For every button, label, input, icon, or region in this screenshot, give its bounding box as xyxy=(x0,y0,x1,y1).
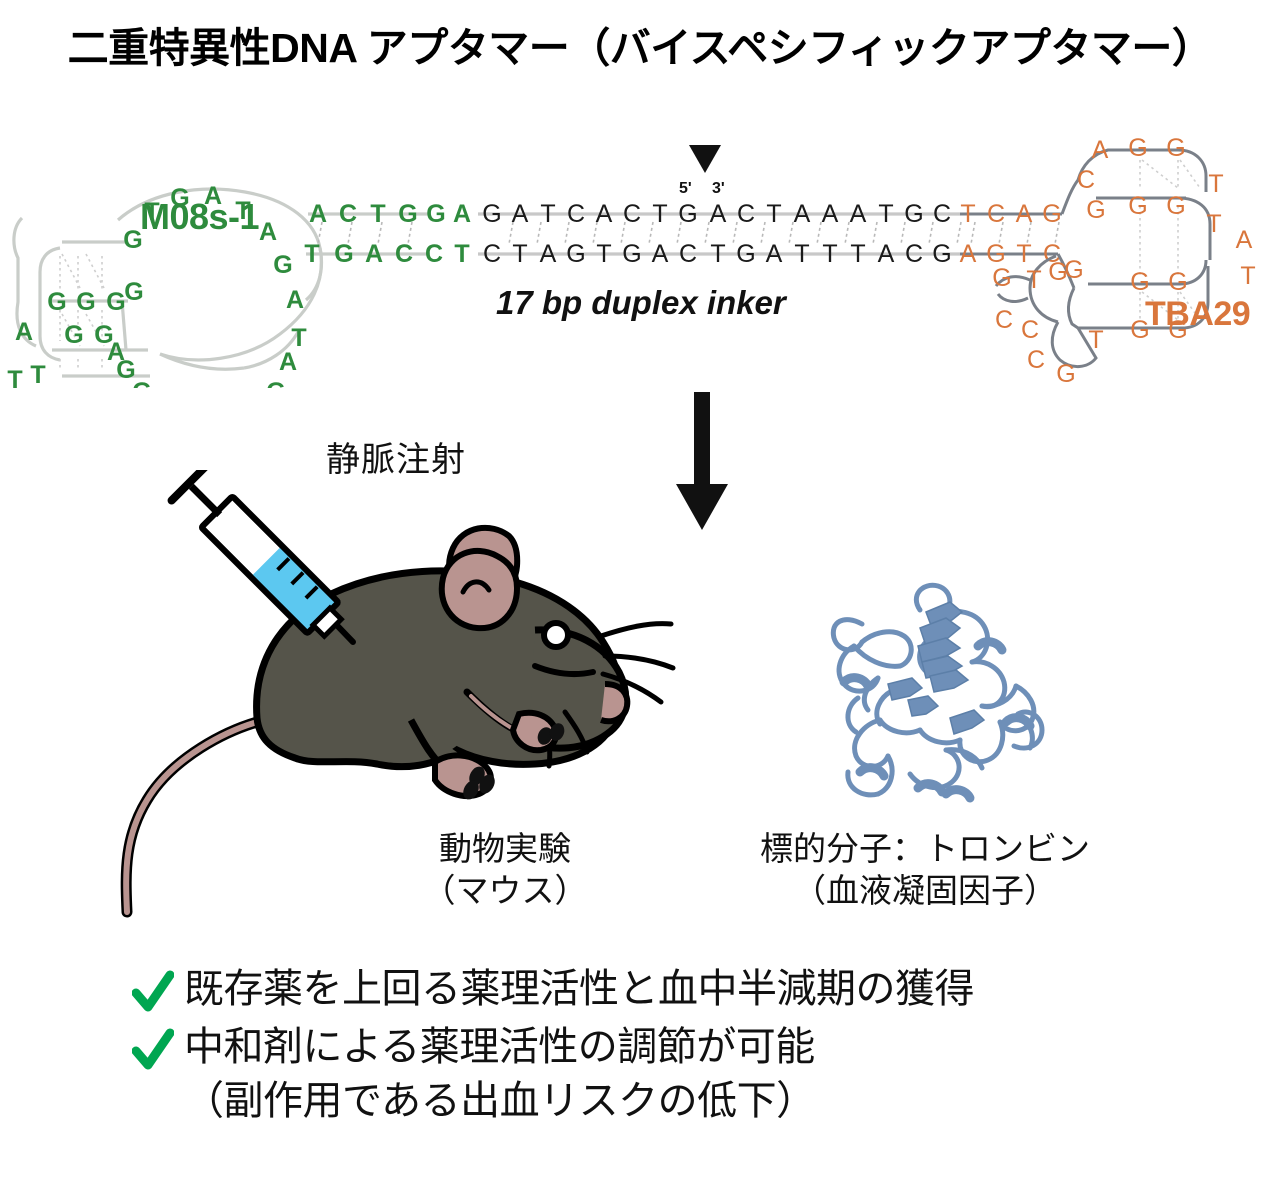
svg-text:G: G xyxy=(904,200,923,228)
svg-text:G: G xyxy=(1128,134,1147,162)
benefits-list: 既存薬を上回る薬理活性と血中半減期の獲得 中和剤による薬理活性の調節が可能 （副… xyxy=(132,963,1252,1132)
svg-text:G: G xyxy=(1086,196,1105,224)
benefit-main-line: 既存薬を上回る薬理活性と血中半減期の獲得 xyxy=(184,963,974,1017)
svg-text:C: C xyxy=(1077,166,1095,194)
svg-text:T: T xyxy=(960,200,975,228)
svg-text:C: C xyxy=(567,200,585,228)
thrombin-caption-line1: 標的分子：トロンビン xyxy=(750,828,1100,870)
benefit-main-line: 中和剤による薬理活性の調節が可能 xyxy=(184,1021,816,1075)
svg-text:C: C xyxy=(1027,346,1045,374)
svg-text:T: T xyxy=(30,361,45,388)
svg-text:G: G xyxy=(566,240,585,268)
svg-text:A: A xyxy=(1092,136,1109,164)
svg-text:T: T xyxy=(304,240,319,268)
svg-text:T: T xyxy=(596,240,611,268)
svg-text:A: A xyxy=(286,286,304,314)
thrombin-ribbon-structure xyxy=(800,550,1080,830)
svg-text:A: A xyxy=(766,240,783,268)
svg-text:A: A xyxy=(652,240,669,268)
svg-text:G: G xyxy=(1128,192,1147,220)
svg-text:A: A xyxy=(365,240,383,268)
svg-text:T: T xyxy=(822,240,837,268)
svg-text:G: G xyxy=(932,240,951,268)
svg-text:C: C xyxy=(425,240,443,268)
svg-text:A: A xyxy=(878,240,895,268)
five-prime-label: 5' xyxy=(679,180,692,198)
svg-text:G: G xyxy=(47,288,66,316)
svg-text:C: C xyxy=(483,240,501,268)
svg-text:G: G xyxy=(736,240,755,268)
svg-text:A: A xyxy=(107,338,125,366)
svg-text:G: G xyxy=(1166,134,1185,162)
svg-text:T: T xyxy=(710,240,725,268)
svg-text:A: A xyxy=(512,200,529,228)
svg-text:T: T xyxy=(766,200,781,228)
svg-text:G: G xyxy=(76,288,95,316)
svg-text:T: T xyxy=(652,200,667,228)
check-mark-icon xyxy=(132,1027,174,1075)
check-mark-icon xyxy=(132,969,174,1017)
svg-text:G: G xyxy=(273,251,292,279)
svg-text:G: G xyxy=(426,200,445,228)
svg-text:T: T xyxy=(1206,210,1221,238)
svg-text:G: G xyxy=(106,288,125,316)
svg-text:T: T xyxy=(1026,266,1041,294)
svg-text:C: C xyxy=(737,200,755,228)
benefit-text: 中和剤による薬理活性の調節が可能 （副作用である出血リスクの低下） xyxy=(184,1021,816,1128)
svg-text:T: T xyxy=(878,200,893,228)
svg-text:T: T xyxy=(1016,240,1031,268)
svg-text:G: G xyxy=(1168,268,1187,296)
svg-text:G: G xyxy=(622,240,641,268)
three-prime-label: 3' xyxy=(712,180,725,198)
svg-text:A: A xyxy=(822,200,839,228)
svg-text:C: C xyxy=(679,240,697,268)
svg-text:C: C xyxy=(933,200,951,228)
thrombin-panel-caption: 標的分子：トロンビン （血液凝固因子） xyxy=(750,828,1100,912)
page-title: 二重特異性DNA アプタマー（バイスペシフィックアプタマー） xyxy=(0,14,1280,74)
svg-text:G: G xyxy=(1048,258,1067,286)
svg-text:G: G xyxy=(992,264,1011,292)
svg-text:C: C xyxy=(905,240,923,268)
svg-text:A: A xyxy=(279,348,297,376)
svg-text:G: G xyxy=(1042,200,1061,228)
list-item: 中和剤による薬理活性の調節が可能 （副作用である出血リスクの低下） xyxy=(132,1021,1252,1128)
benefit-text: 既存薬を上回る薬理活性と血中半減期の獲得 xyxy=(184,963,974,1017)
svg-text:T: T xyxy=(512,240,527,268)
svg-text:C: C xyxy=(1021,316,1039,344)
svg-text:T: T xyxy=(1208,170,1223,198)
svg-text:T: T xyxy=(454,240,469,268)
benefit-sub-line: （副作用である出血リスクの低下） xyxy=(184,1075,816,1129)
svg-text:C: C xyxy=(987,200,1005,228)
mouse-panel-caption: 動物実験 （マウス） xyxy=(395,828,615,912)
svg-text:A: A xyxy=(850,200,867,228)
mouse-caption-line2: （マウス） xyxy=(395,870,615,912)
list-item: 既存薬を上回る薬理活性と血中半減期の獲得 xyxy=(132,963,1252,1017)
svg-text:A: A xyxy=(540,240,557,268)
aptamer-label-tba29: TBA29 xyxy=(1145,295,1250,334)
svg-text:A: A xyxy=(453,200,471,228)
svg-text:G: G xyxy=(1130,268,1149,296)
svg-text:C: C xyxy=(995,306,1013,334)
svg-text:A: A xyxy=(1016,200,1033,228)
svg-text:A: A xyxy=(710,200,727,228)
svg-text:A: A xyxy=(15,318,33,346)
svg-text:A: A xyxy=(960,240,977,268)
svg-text:A: A xyxy=(309,200,327,228)
thrombin-caption-line2: （血液凝固因子） xyxy=(750,870,1100,912)
svg-text:T: T xyxy=(7,366,22,388)
svg-text:C: C xyxy=(339,200,357,228)
svg-text:T: T xyxy=(1088,326,1103,354)
svg-text:T: T xyxy=(1240,262,1255,290)
svg-text:T: T xyxy=(850,240,865,268)
svg-text:G: G xyxy=(64,321,83,349)
svg-text:A: A xyxy=(259,218,277,246)
svg-text:C: C xyxy=(395,240,413,268)
svg-text:G: G xyxy=(1056,360,1075,388)
svg-text:T: T xyxy=(540,200,555,228)
svg-text:G: G xyxy=(124,278,143,306)
svg-text:G: G xyxy=(266,378,285,388)
svg-text:C: C xyxy=(623,200,641,228)
svg-text:A: A xyxy=(1236,226,1253,254)
down-triangle-icon xyxy=(689,145,721,173)
svg-text:G: G xyxy=(334,240,353,268)
mouse-caption-line1: 動物実験 xyxy=(395,828,615,870)
svg-text:G: G xyxy=(398,200,417,228)
svg-text:A: A xyxy=(596,200,613,228)
aptamer-label-m08s1: M08s-1 xyxy=(140,196,259,238)
svg-text:A: A xyxy=(794,200,811,228)
aptamer-schematic-diagram: G G G A G G T T T G G G G G G G G T G A … xyxy=(0,88,1280,388)
svg-text:G: G xyxy=(482,200,501,228)
svg-text:T: T xyxy=(370,200,385,228)
svg-text:G: G xyxy=(678,200,697,228)
duplex-linker-label: 17 bp duplex inker xyxy=(496,284,786,322)
svg-text:T: T xyxy=(794,240,809,268)
svg-text:G: G xyxy=(1166,192,1185,220)
